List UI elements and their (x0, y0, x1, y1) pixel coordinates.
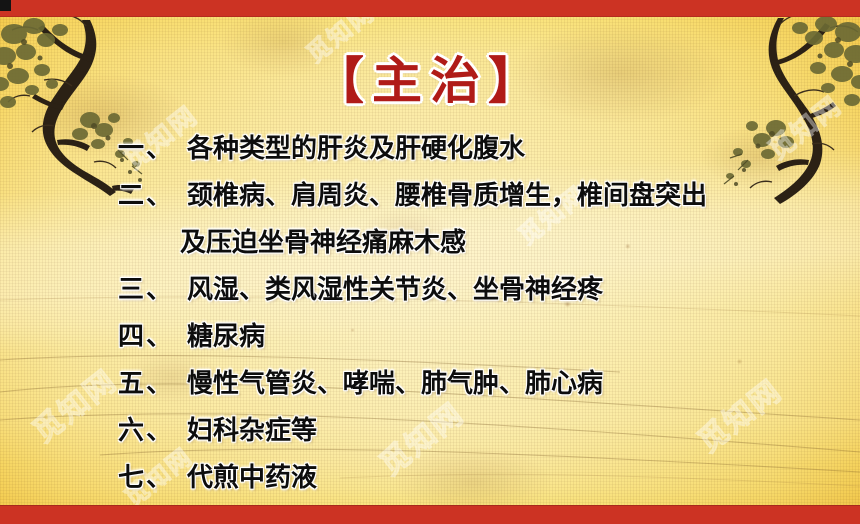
poster-canvas: 觅知网觅知网觅知网觅知网觅知网觅知网觅知网觅知网 【主治】 一、 各种类型的肝炎… (0, 0, 860, 524)
list-item: 五、 慢性气管炎、哮喘、肺气肿、肺心病 (118, 361, 820, 408)
list-item-text: 及压迫坐骨神经痛麻木感 (180, 228, 466, 258)
list-item-number: 二、 (118, 181, 174, 211)
list-item: 二、 颈椎病、肩周炎、腰椎骨质增生，椎间盘突出 (118, 173, 820, 220)
list-item-number: 一、 (118, 134, 174, 164)
list-item-text: 代煎中药液 (187, 463, 317, 493)
list-item-text: 风湿、类风湿性关节炎、坐骨神经疼 (187, 275, 603, 305)
list-item-number: 五、 (118, 369, 174, 399)
list-item-text: 各种类型的肝炎及肝硬化腹水 (187, 134, 525, 164)
page-title: 【主治】 (314, 56, 546, 106)
list-item: 三、 风湿、类风湿性关节炎、坐骨神经疼 (118, 267, 820, 314)
bottom-red-band (0, 505, 860, 524)
list-item-text: 妇科杂症等 (187, 416, 317, 446)
list-item-number: 七、 (118, 463, 174, 493)
list-item-number: 四、 (118, 322, 174, 352)
indication-list: 一、 各种类型的肝炎及肝硬化腹水二、 颈椎病、肩周炎、腰椎骨质增生，椎间盘突出及… (118, 126, 820, 502)
list-item-number: 三、 (118, 275, 174, 305)
title-container: 【主治】 (0, 56, 860, 106)
corner-square-mark (0, 0, 11, 11)
list-item: 四、 糖尿病 (118, 314, 820, 361)
list-item: 七、 代煎中药液 (118, 455, 820, 502)
top-red-band (0, 0, 860, 17)
list-item-text: 慢性气管炎、哮喘、肺气肿、肺心病 (187, 369, 603, 399)
list-item: 一、 各种类型的肝炎及肝硬化腹水 (118, 126, 820, 173)
list-item: 六、 妇科杂症等 (118, 408, 820, 455)
list-item: 及压迫坐骨神经痛麻木感 (118, 220, 820, 267)
list-item-text: 颈椎病、肩周炎、腰椎骨质增生，椎间盘突出 (187, 181, 707, 211)
list-item-number: 六、 (118, 416, 174, 446)
list-item-text: 糖尿病 (187, 322, 265, 352)
